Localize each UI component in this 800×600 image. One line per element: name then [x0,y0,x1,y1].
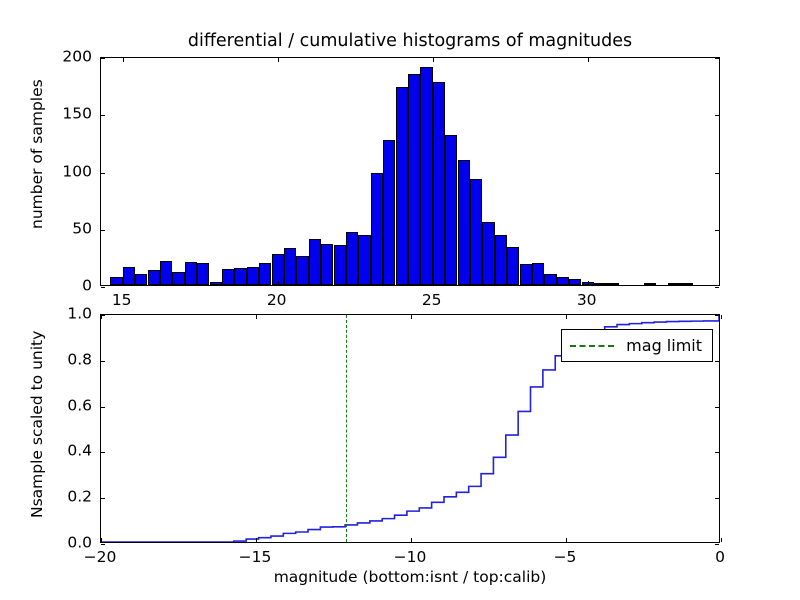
tick-mark [278,58,279,62]
top-y-tick-label: 150 [44,106,92,123]
chart-title: differential / cumulative histograms of … [100,30,720,52]
histogram-bar [470,179,482,285]
bottom-y-tick-label: 0.6 [44,397,92,414]
histogram-bar [520,264,532,285]
tick-mark [101,452,105,453]
tick-mark [101,173,105,174]
tick-mark [101,58,105,59]
tick-mark [101,498,105,499]
tick-mark [715,361,719,362]
histogram-bar [482,222,494,285]
figure-canvas: differential / cumulative histograms of … [0,0,800,600]
histogram-bar [210,282,222,285]
histogram-bar [259,263,271,285]
tick-mark [715,315,719,316]
tick-mark [566,538,567,542]
top-plot-area [101,58,719,285]
histogram-bar [296,256,308,285]
histogram-bar [396,87,408,285]
histogram-bar [557,277,569,285]
histogram-bar [408,74,420,285]
bottom-x-tick-label: −15 [239,549,272,566]
histogram-bar [123,267,135,285]
histogram-bar [420,67,432,285]
legend[interactable]: mag limit [561,329,713,362]
top-x-tick-label: 20 [267,292,287,309]
tick-mark [715,498,719,499]
tick-mark [715,407,719,408]
bottom-y-tick-label: 1.0 [44,306,92,323]
tick-mark [566,315,567,319]
bottom-x-tick-label: −5 [554,549,577,566]
histogram-bar [594,283,606,285]
x-axis-label: magnitude (bottom:isnt / top:calib) [100,568,720,586]
histogram-bar [247,267,259,285]
tick-mark [101,544,105,545]
tick-mark [101,361,105,362]
tick-mark [101,287,105,288]
histogram-bar [234,268,246,285]
tick-mark [715,452,719,453]
tick-mark [715,173,719,174]
tick-mark [123,281,124,285]
histogram-bar [644,283,656,285]
tick-mark [123,58,124,62]
histogram-bar [507,247,519,285]
bottom-y-axis-label: Nsample scaled to unity [28,331,46,518]
histogram-bar [135,274,147,285]
top-y-tick-label: 200 [44,49,92,66]
top-histogram-axes [100,57,720,286]
tick-mark [256,315,257,319]
histogram-bar [371,173,383,285]
top-x-tick-label: 15 [112,292,132,309]
tick-mark [721,315,722,319]
tick-mark [715,58,719,59]
tick-mark [715,230,719,231]
bottom-y-tick-label: 0.0 [44,535,92,552]
legend-entry-label: mag limit [626,336,702,355]
top-y-tick-label: 50 [44,220,92,237]
top-y-tick-label: 0 [44,278,92,295]
bottom-x-tick-label: 0 [715,549,725,566]
bottom-y-tick-label: 0.4 [44,443,92,460]
histogram-bar [284,248,296,285]
tick-mark [101,115,105,116]
histogram-bar [433,82,445,285]
histogram-bar [458,160,470,285]
top-y-tick-label: 100 [44,163,92,180]
tick-mark [715,544,719,545]
histogram-bar [309,239,321,285]
histogram-bar [495,235,507,285]
histogram-bar [383,140,395,285]
histogram-bar [334,245,346,285]
tick-mark [715,287,719,288]
histogram-bar [544,274,556,285]
tick-mark [433,58,434,62]
tick-mark [588,281,589,285]
tick-mark [101,538,102,542]
histogram-bar [346,232,358,285]
histogram-bar [160,261,172,285]
bottom-x-tick-label: −10 [394,549,427,566]
tick-mark [278,281,279,285]
tick-mark [715,115,719,116]
tick-mark [588,58,589,62]
histogram-bar [197,263,209,285]
bottom-x-tick-label: −20 [84,549,117,566]
tick-mark [411,538,412,542]
histogram-bar [668,283,680,285]
top-y-axis-label: number of samples [28,79,46,229]
tick-mark [256,538,257,542]
top-x-tick-label: 30 [577,292,597,309]
bottom-y-tick-label: 0.2 [44,489,92,506]
tick-mark [433,281,434,285]
histogram-bar [532,263,544,285]
histogram-bar [445,135,457,285]
histogram-bar [185,262,197,285]
histogram-bar [110,277,122,285]
histogram-bar [358,235,370,285]
bottom-y-tick-label: 0.8 [44,351,92,368]
histogram-bar [569,279,581,285]
histogram-bar [148,270,160,285]
mag-limit-vline [346,315,347,542]
bottom-cumulative-axes: mag limit [100,314,720,543]
histogram-bar [172,272,184,285]
histogram-bar [222,269,234,285]
histogram-bar [321,244,333,285]
histogram-bar [681,283,693,285]
tick-mark [101,315,105,316]
histogram-bar [606,283,618,285]
tick-mark [101,407,105,408]
tick-mark [411,315,412,319]
mag-limit-line-swatch-icon [570,345,614,347]
tick-mark [721,538,722,542]
tick-mark [101,230,105,231]
top-x-tick-label: 25 [422,292,442,309]
